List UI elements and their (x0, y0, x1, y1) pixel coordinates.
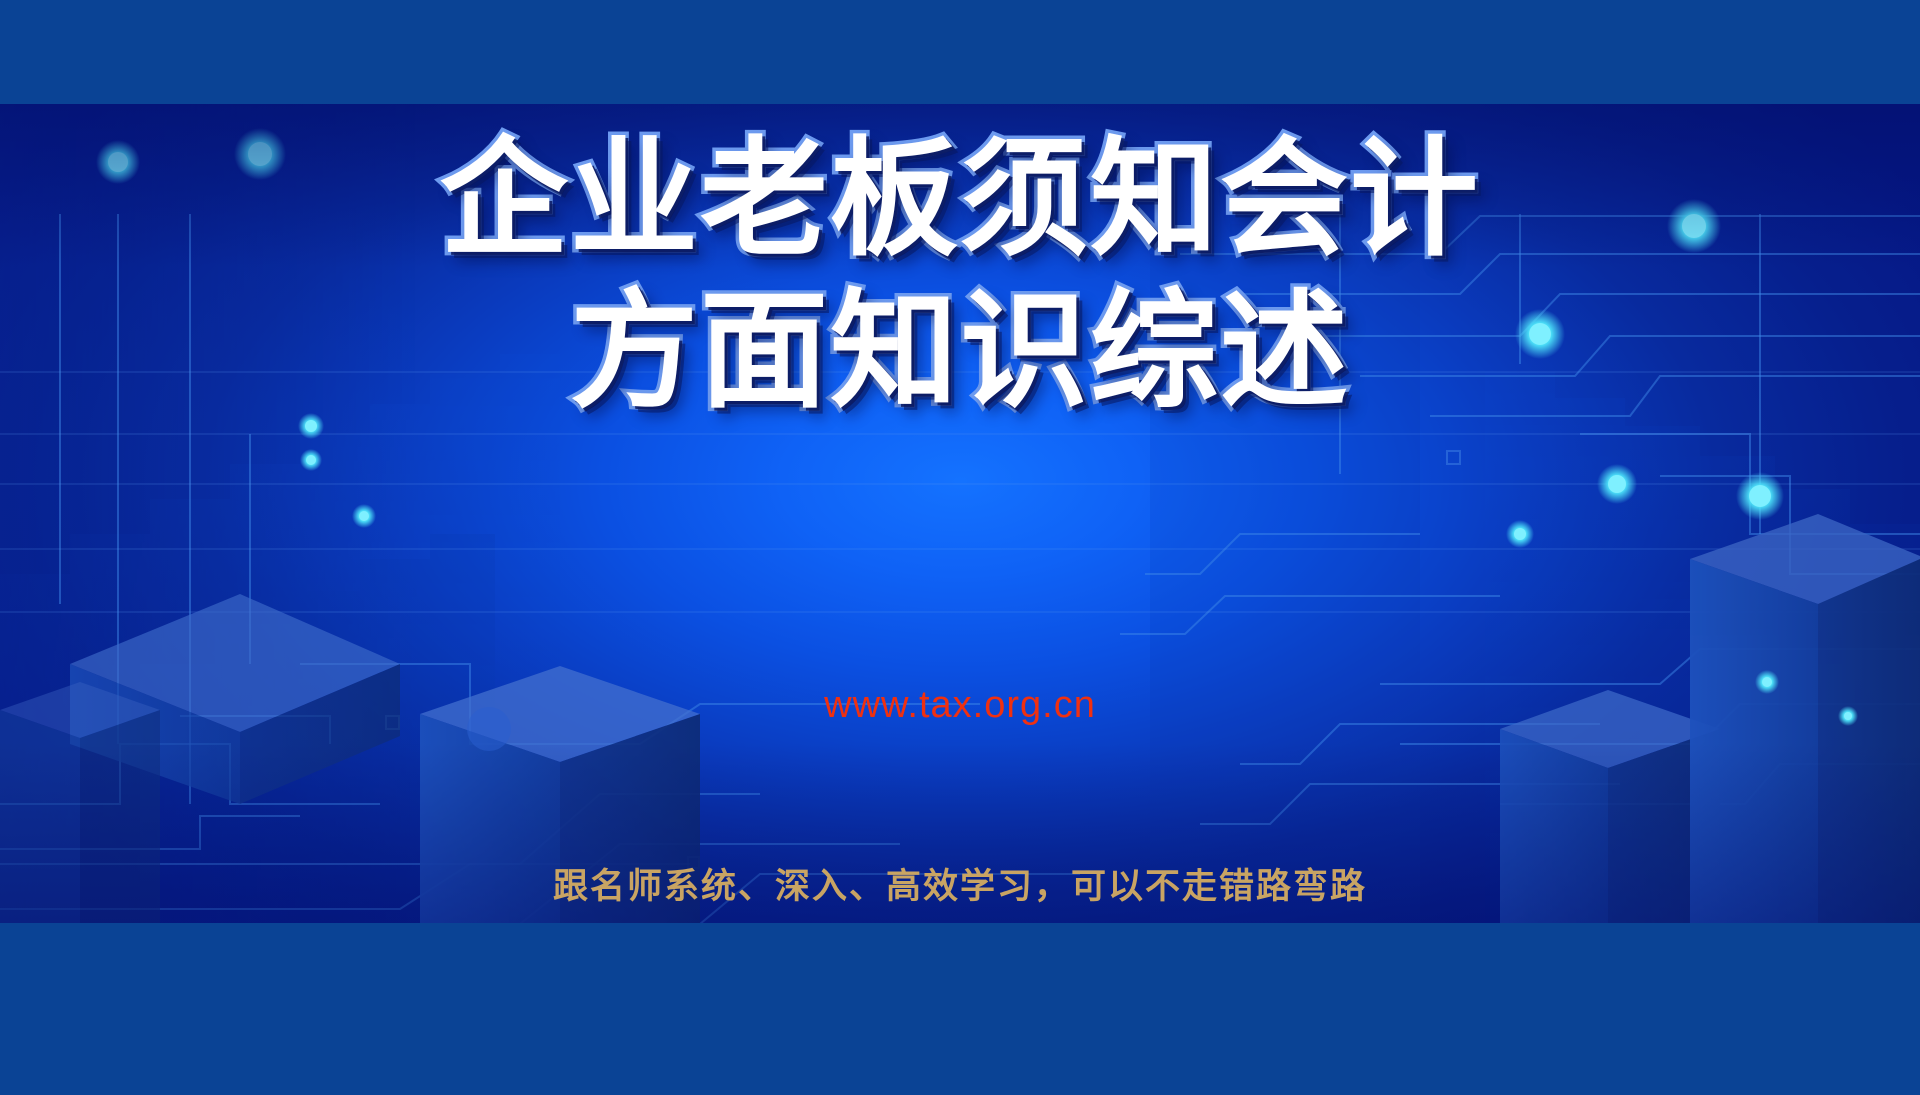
poster-stage: 企业老板须知会计 方面知识综述 www.tax.org.cn 跟名师系统、深入、… (0, 0, 1920, 1095)
stepped-wave-texture (0, 104, 1920, 923)
panel-vignette (0, 104, 1920, 923)
poster-background-panel (0, 104, 1920, 923)
bottom-color-band (0, 923, 1920, 1095)
glowing-cyan-node-pins (0, 104, 1920, 923)
top-color-band (0, 0, 1920, 104)
circuit-board-traces (0, 104, 1920, 923)
isometric-data-blocks (0, 104, 1920, 923)
